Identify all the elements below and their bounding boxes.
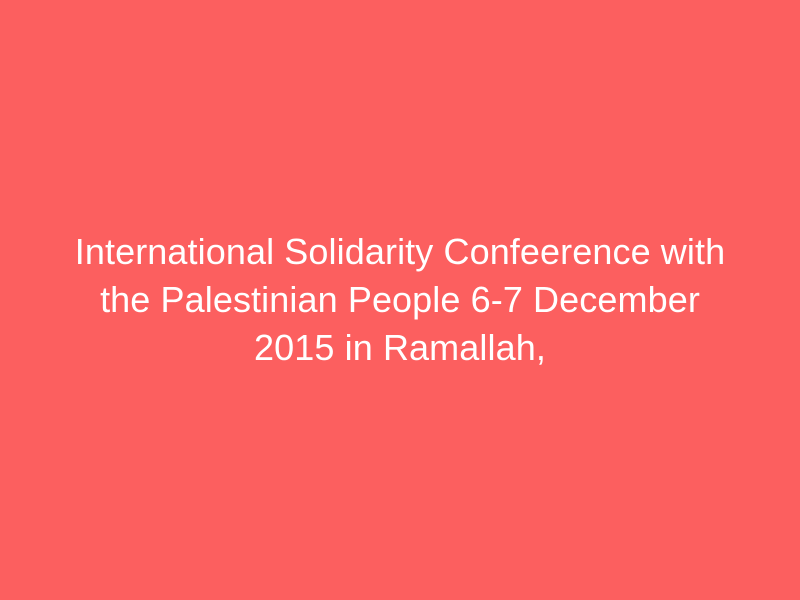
banner-text-block: International Solidarity Confeerence wit…: [60, 228, 740, 372]
placeholder-banner: International Solidarity Confeerence wit…: [0, 0, 800, 600]
banner-title: International Solidarity Confeerence wit…: [60, 228, 740, 372]
